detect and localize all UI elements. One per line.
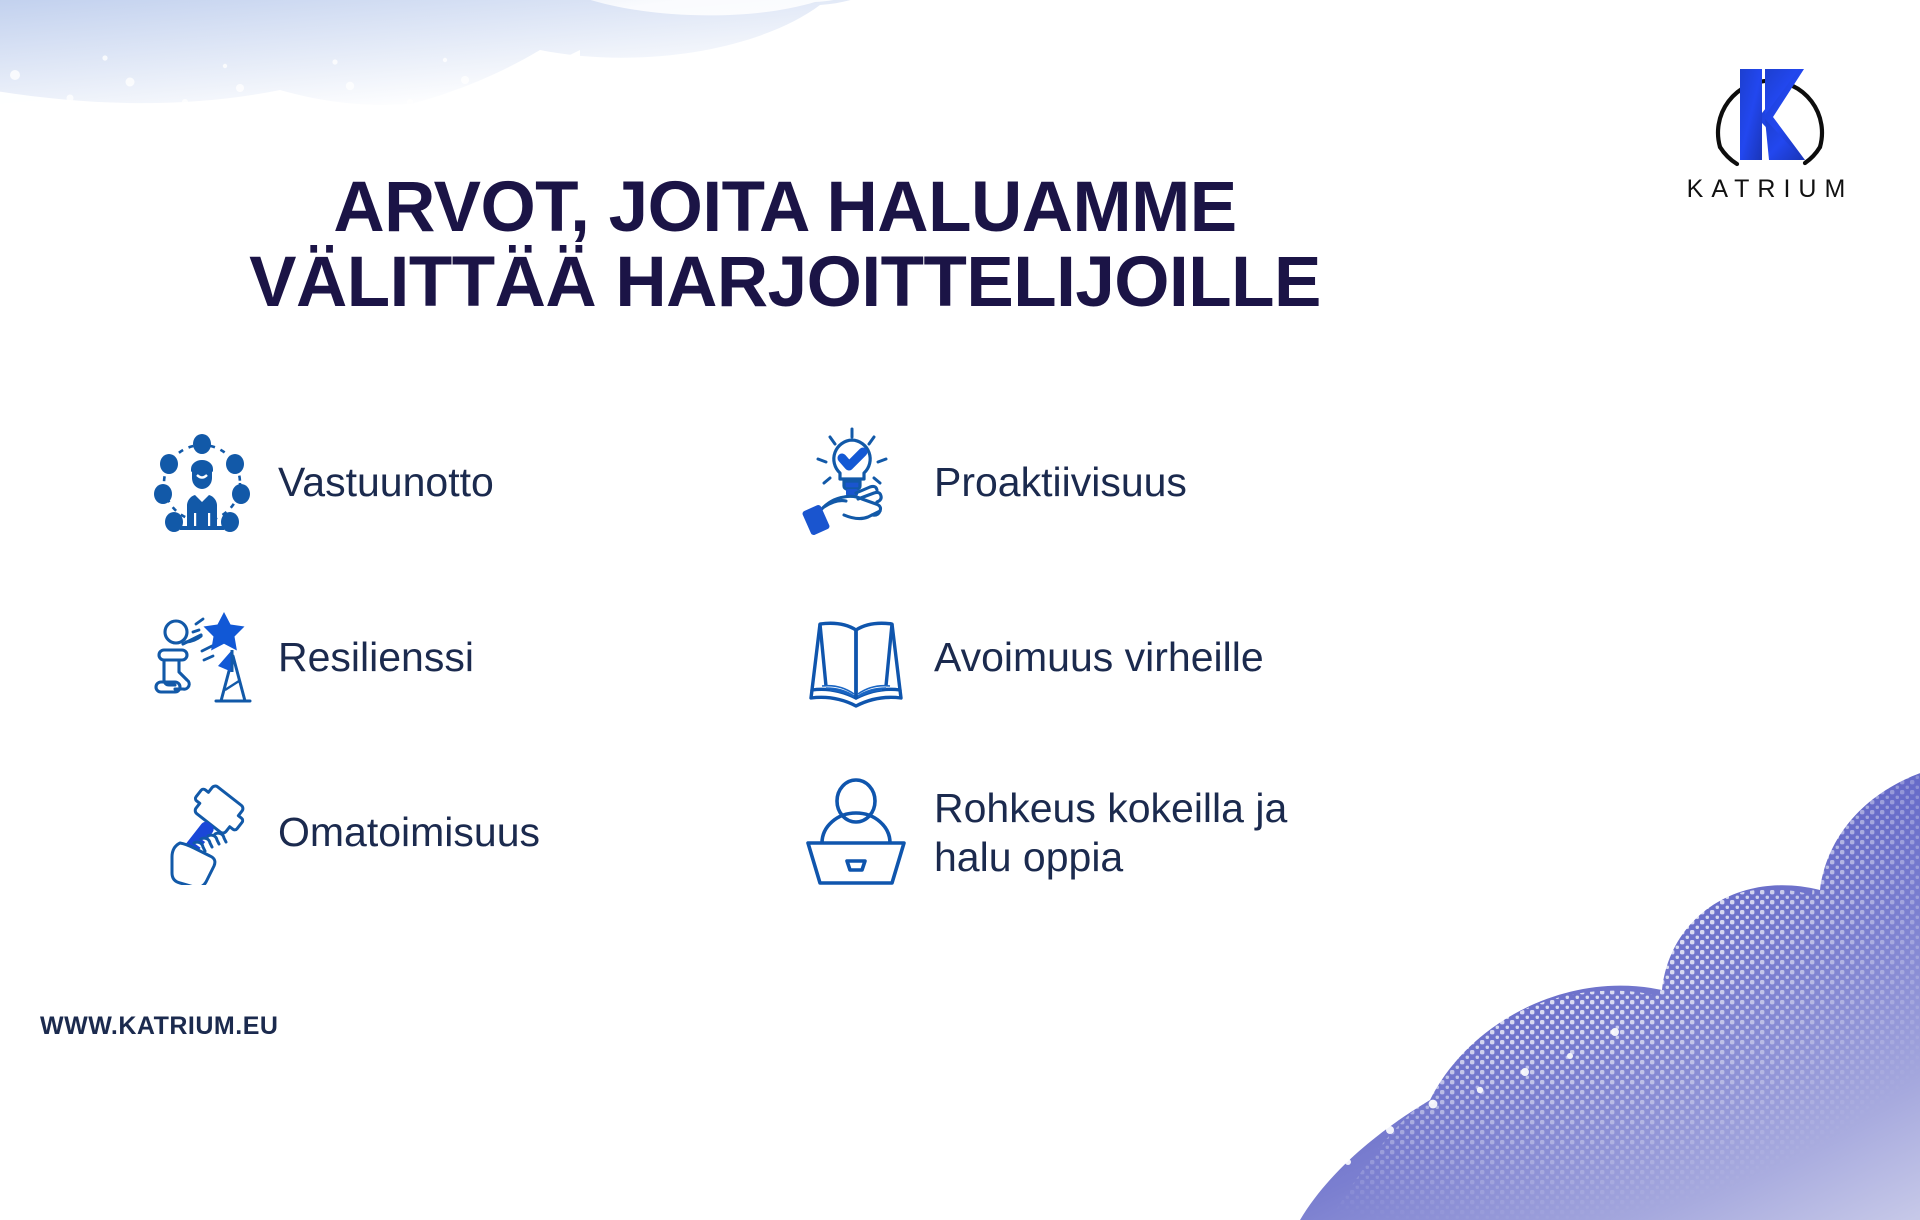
value-label: Avoimuus virheille bbox=[934, 633, 1264, 681]
value-label: Resilienssi bbox=[278, 633, 474, 681]
value-item-omatoimisuus: Omatoimisuus bbox=[150, 745, 770, 920]
value-item-avoimuus-virheille: Avoimuus virheille bbox=[800, 570, 1560, 745]
value-item-rohkeus-kokeilla: Rohkeus kokeilla ja halu oppia bbox=[800, 745, 1560, 920]
value-label: Rohkeus kokeilla ja halu oppia bbox=[934, 784, 1287, 881]
open-book-icon bbox=[800, 602, 912, 714]
running-person-star-mountain-icon bbox=[150, 606, 254, 710]
person-at-lectern-icon bbox=[800, 777, 912, 889]
logo-wordmark: KATRIUM bbox=[1687, 175, 1854, 203]
values-left-column: Vastuunotto bbox=[150, 395, 770, 920]
value-label: Omatoimisuus bbox=[278, 808, 540, 856]
katrium-logo: KATRIUM bbox=[1645, 25, 1895, 205]
page-title: ARVOT, JOITA HALUAMME VÄLITTÄÄ HARJOITTE… bbox=[0, 170, 1570, 321]
hand-lightbulb-check-icon bbox=[800, 427, 912, 539]
person-network-icon bbox=[150, 431, 254, 535]
value-item-proaktiivisuus: Proaktiivisuus bbox=[800, 395, 1560, 570]
hand-holding-gavel-icon bbox=[150, 781, 254, 885]
value-item-vastuunotto: Vastuunotto bbox=[150, 395, 770, 570]
website-url[interactable]: WWW.KATRIUM.EU bbox=[40, 1012, 278, 1041]
value-label: Vastuunotto bbox=[278, 458, 494, 506]
values-right-column: Proaktiivisuus bbox=[800, 395, 1560, 920]
value-label: Proaktiivisuus bbox=[934, 458, 1187, 506]
value-item-resilienssi: Resilienssi bbox=[150, 570, 770, 745]
